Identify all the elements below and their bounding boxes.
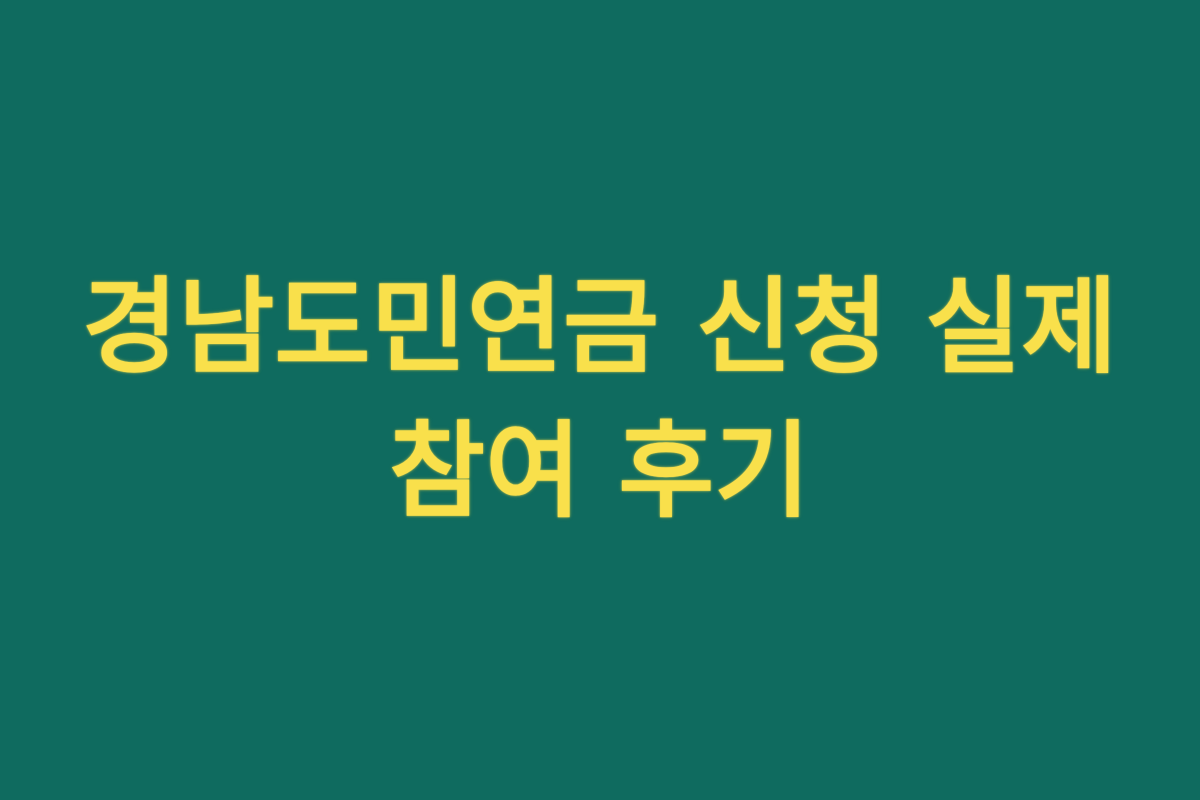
title-line-2: 참여 후기 [389, 400, 811, 544]
title-card-canvas: 경남도민연금 신청 실제 참여 후기 [0, 0, 1200, 800]
title-block: 경남도민연금 신청 실제 참여 후기 [0, 0, 1200, 800]
title-line-1: 경남도민연금 신청 실제 [82, 256, 1117, 400]
